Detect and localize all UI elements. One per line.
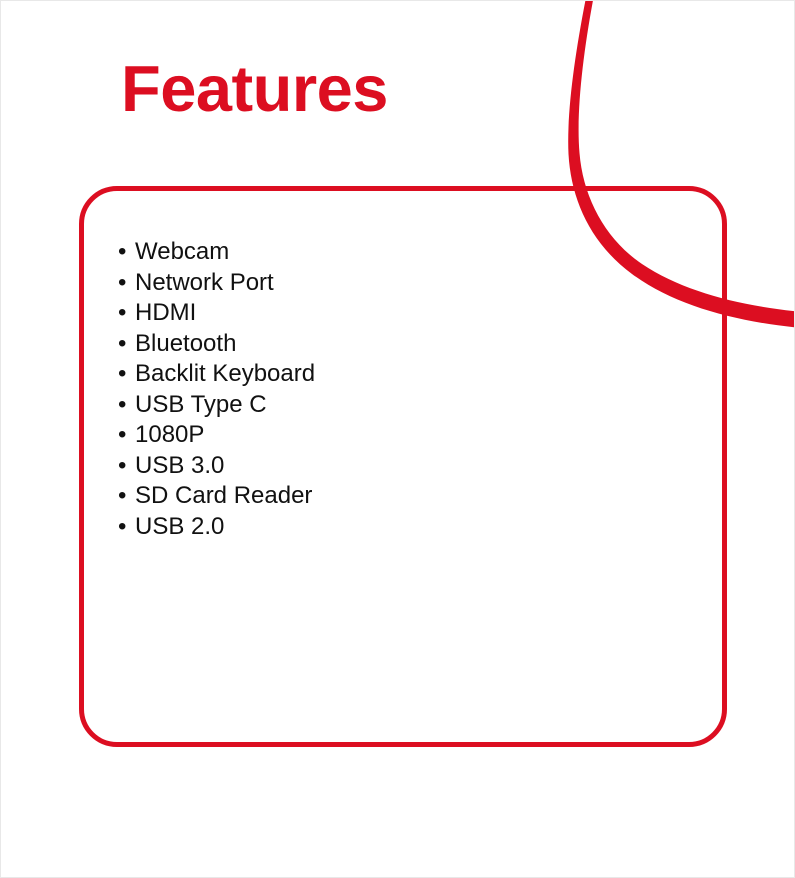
feature-label: Webcam (135, 238, 229, 265)
feature-list-item: •USB 3.0 (118, 451, 315, 482)
feature-label: Bluetooth (135, 330, 236, 357)
bullet-icon: • (118, 268, 126, 299)
feature-label: Network Port (135, 269, 274, 296)
feature-list-item: •1080P (118, 420, 315, 451)
bullet-icon: • (118, 390, 126, 421)
bullet-icon: • (118, 329, 126, 360)
bullet-icon: • (118, 481, 126, 512)
feature-label: USB Type C (135, 391, 267, 418)
feature-list-item: •HDMI (118, 298, 315, 329)
bullet-icon: • (118, 451, 126, 482)
feature-label: SD Card Reader (135, 482, 312, 509)
bullet-icon: • (118, 237, 126, 268)
bullet-icon: • (118, 512, 126, 543)
feature-label: USB 3.0 (135, 452, 224, 479)
bullet-icon: • (118, 298, 126, 329)
feature-label: 1080P (135, 421, 204, 448)
feature-list-item: •Bluetooth (118, 329, 315, 360)
slide-canvas: Features •Webcam•Network Port•HDMI•Bluet… (0, 0, 795, 878)
features-list: •Webcam•Network Port•HDMI•Bluetooth•Back… (118, 237, 315, 542)
bullet-icon: • (118, 420, 126, 451)
feature-label: USB 2.0 (135, 513, 224, 540)
feature-list-item: •SD Card Reader (118, 481, 315, 512)
feature-label: Backlit Keyboard (135, 360, 315, 387)
page-title: Features (121, 56, 388, 121)
feature-list-item: •Backlit Keyboard (118, 359, 315, 390)
feature-list-item: •Webcam (118, 237, 315, 268)
feature-list-item: •USB Type C (118, 390, 315, 421)
feature-list-item: •USB 2.0 (118, 512, 315, 543)
feature-list-item: •Network Port (118, 268, 315, 299)
bullet-icon: • (118, 359, 126, 390)
feature-label: HDMI (135, 299, 196, 326)
